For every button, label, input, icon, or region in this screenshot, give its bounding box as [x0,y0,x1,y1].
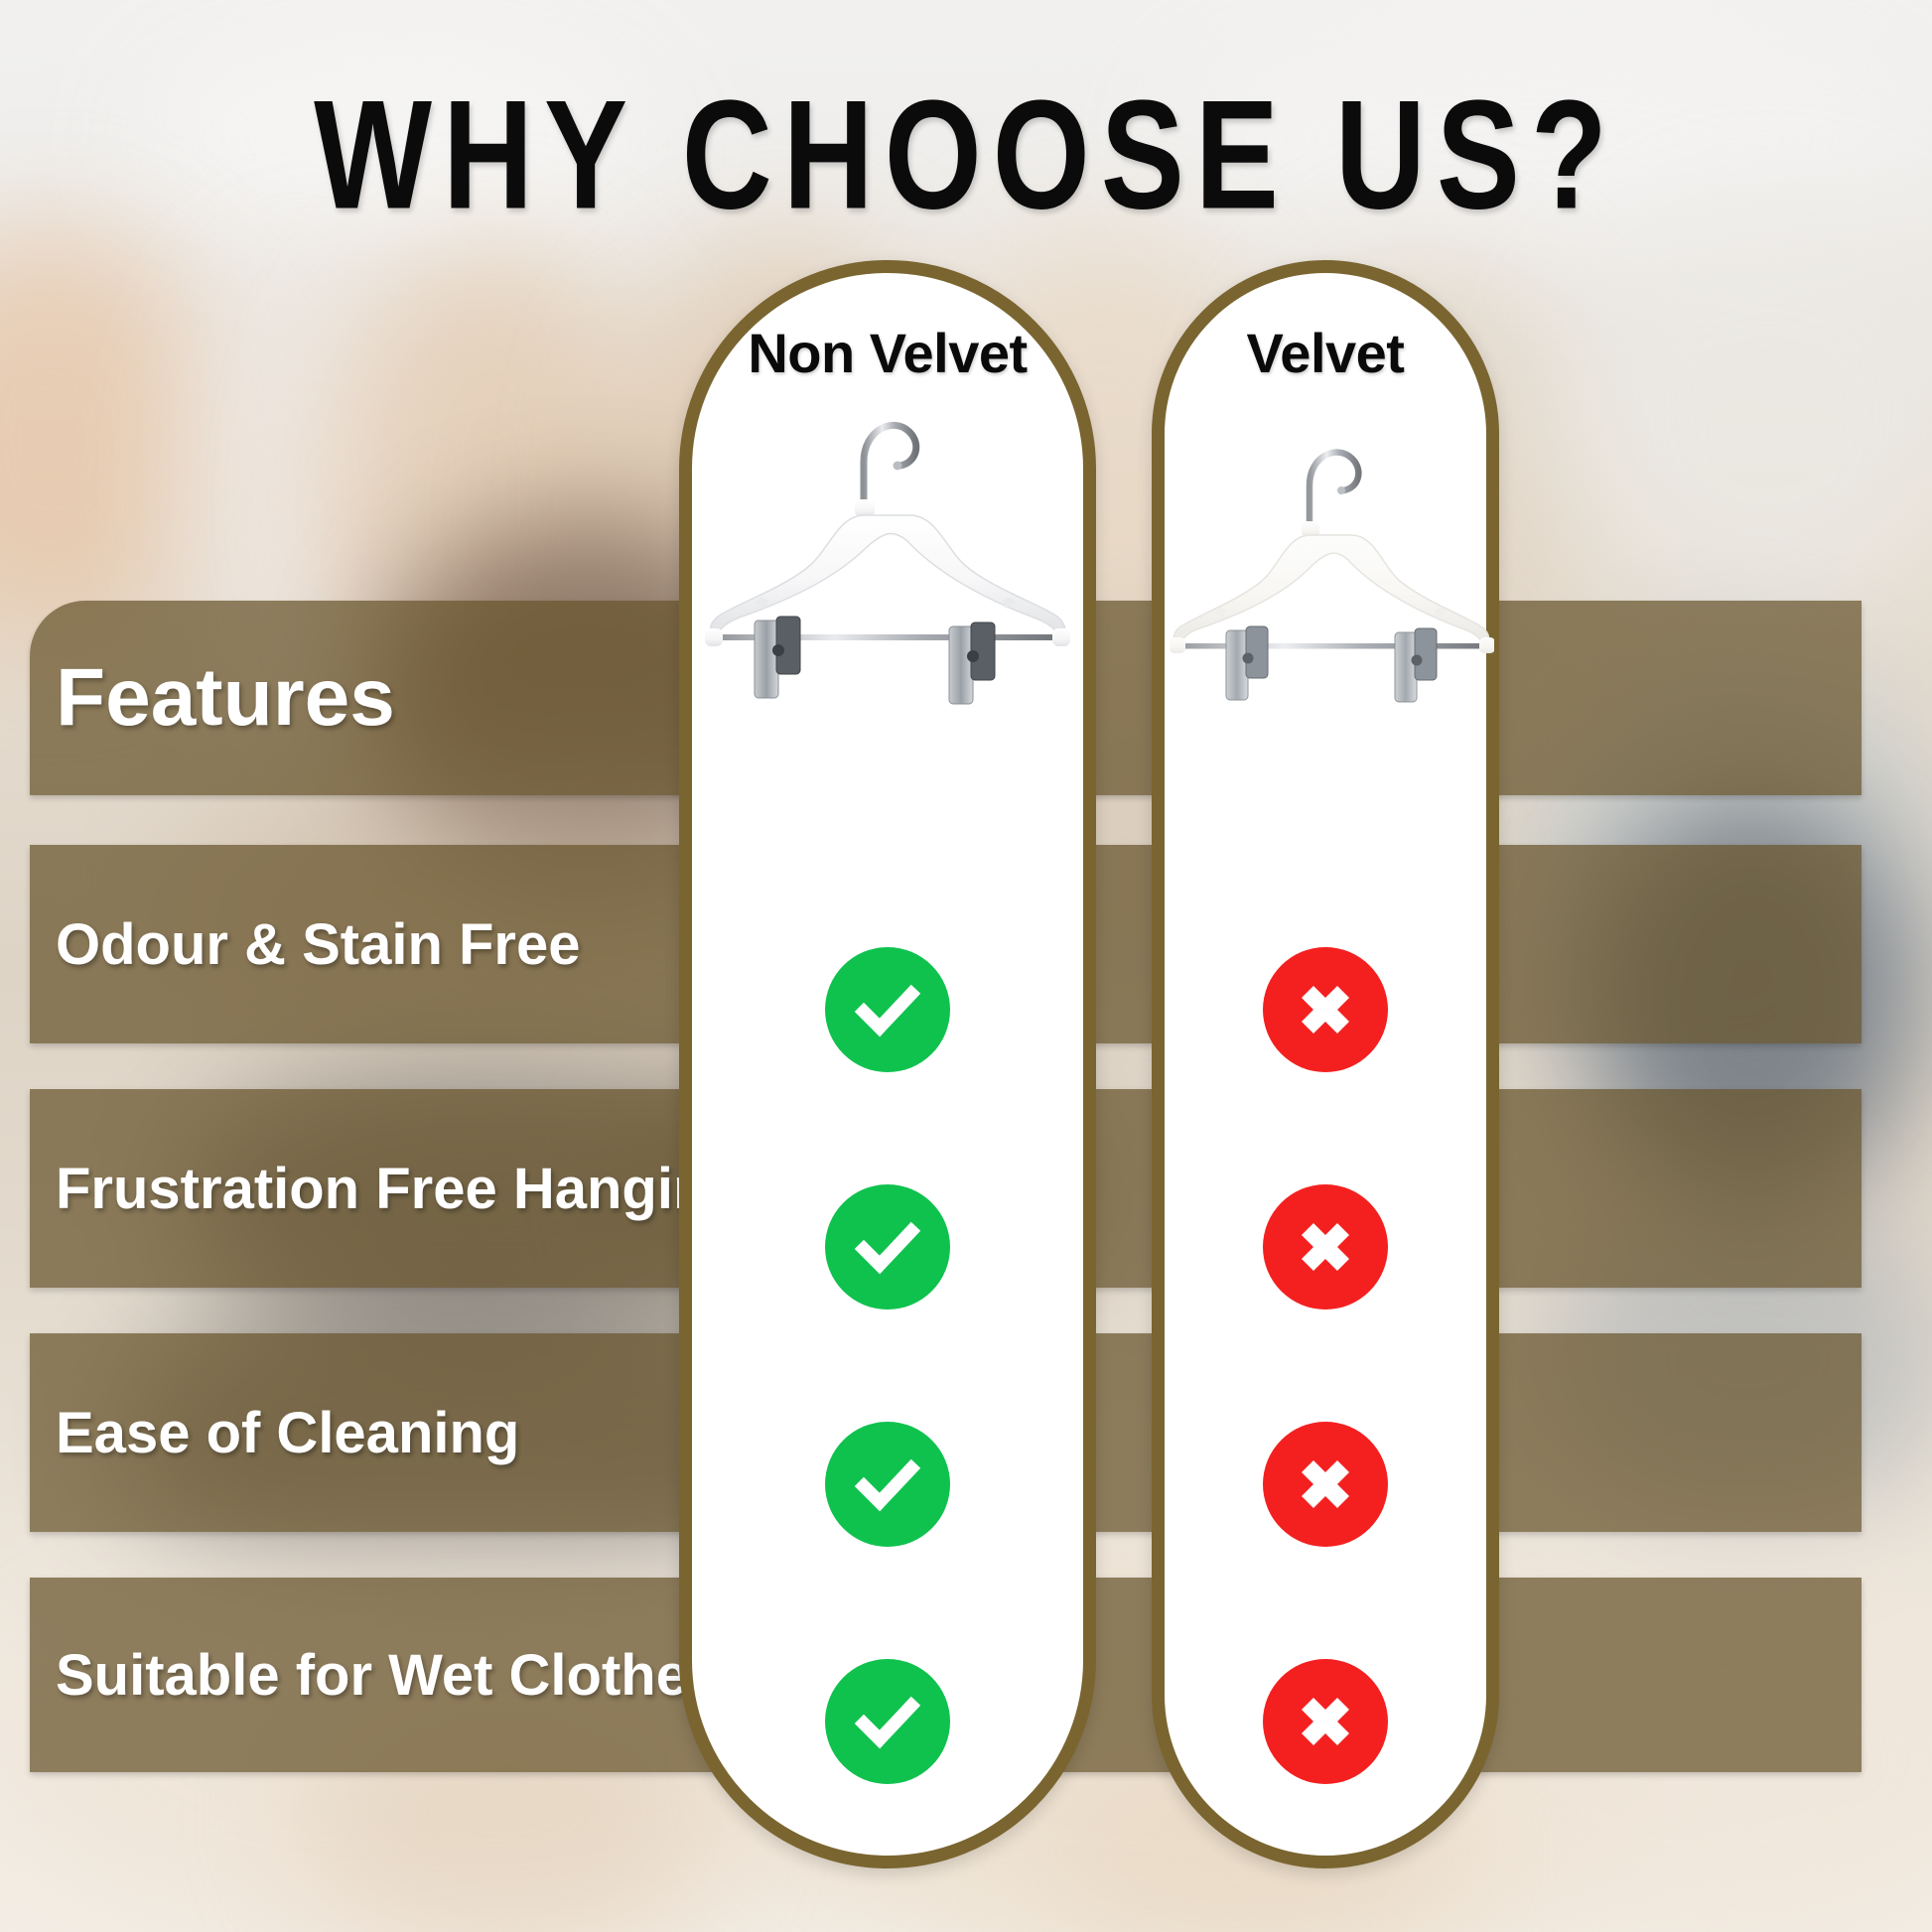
cross-circle-icon-1 [1263,947,1388,1072]
page-title: WHY CHOOSE US? [0,77,1932,232]
column-header-velvet: Velvet [1165,321,1486,385]
cross-circle-icon-2 [1263,1184,1388,1310]
feature-row-label: Odour & Stain Free [30,911,581,978]
feature-row-label: Frustration Free Hanging [30,1156,744,1222]
features-header-label: Features [30,651,395,745]
column-header-non-velvet: Non Velvet [692,321,1083,385]
feature-row-label: Ease of Cleaning [30,1400,519,1466]
column-non-velvet: Non Velvet [679,260,1096,1868]
cross-circle-icon-4 [1263,1659,1388,1784]
check-circle-icon-4 [825,1659,950,1784]
column-velvet: Velvet [1152,260,1499,1868]
cross-circle-icon-3 [1263,1422,1388,1547]
velvet-hanger-with-clips-icon [1157,422,1494,720]
feature-row-label: Suitable for Wet Clothes [30,1642,720,1709]
check-circle-icon-2 [825,1184,950,1310]
hanger-with-clips-icon [689,390,1086,718]
check-circle-icon-3 [825,1422,950,1547]
infographic-canvas: WHY CHOOSE US? Features Odour & Stain Fr… [0,0,1932,1932]
check-circle-icon-1 [825,947,950,1072]
